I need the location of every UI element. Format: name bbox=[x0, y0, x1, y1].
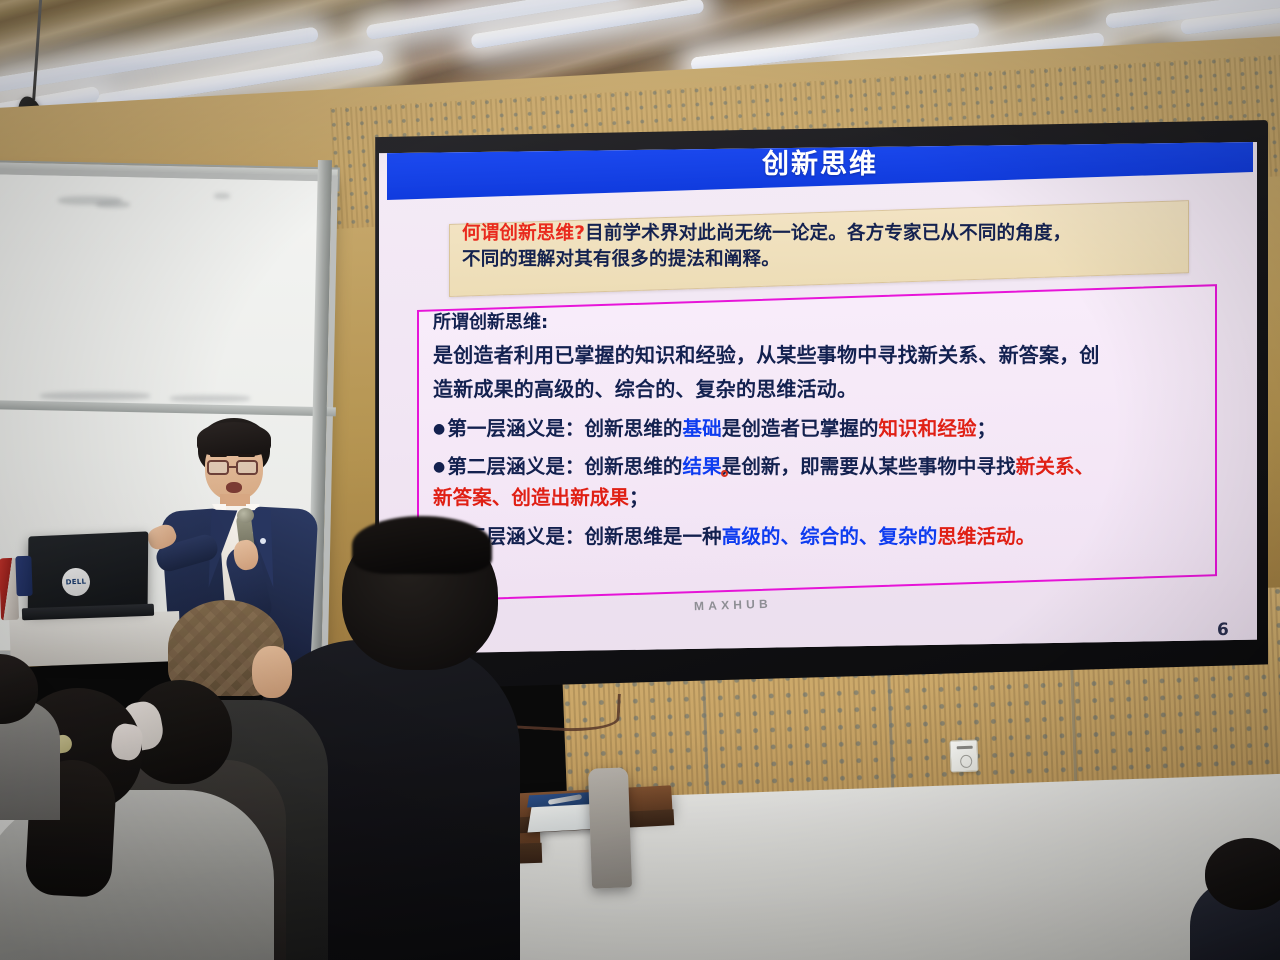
presentation-slide: 创新思维 何谓创新思维?目前学术界对此尚无统一论定。各方专家已从不同的角度， 不… bbox=[379, 142, 1257, 654]
bullet-3-highlight-red: 思维活动。 bbox=[937, 525, 1035, 548]
body-bullet-1: 第一层涵义是：创新思维的基础是创造者已掌握的知识和经验； bbox=[433, 414, 1203, 443]
bullet-2-cont-part: ； bbox=[629, 486, 649, 509]
note-question-text: 何谓创新思维? bbox=[462, 223, 585, 244]
bullet-2-cont-highlight-red: 新答案、创造出新成果 bbox=[433, 486, 629, 509]
glasses-icon bbox=[236, 460, 258, 475]
whiteboard-smudge bbox=[170, 395, 250, 402]
note-line1-rest: 目前学术界对此尚无统一论定。各方专家已从不同的角度， bbox=[585, 223, 1071, 244]
body-bullet-2-continuation: 新答案、创造出新成果； bbox=[433, 483, 1203, 512]
audience-head bbox=[1205, 838, 1280, 910]
lapel-pin-icon bbox=[260, 538, 266, 544]
wall-outlet-panel[interactable] bbox=[949, 740, 978, 773]
dell-logo-text: DELL bbox=[65, 578, 86, 587]
body-lead-text: 所谓创新思维: bbox=[433, 309, 1203, 336]
glasses-icon bbox=[207, 460, 229, 475]
laptop[interactable] bbox=[28, 531, 149, 612]
slide-page-number: 6 bbox=[1217, 620, 1229, 640]
body-bullet-3: 第三层涵义是：创新思维是一种高级的、综合的、复杂的思维活动。 bbox=[433, 522, 1203, 551]
note-line-1: 何谓创新思维?目前学术界对此尚无统一论定。各方专家已从不同的角度， bbox=[462, 221, 1176, 247]
bullet-1-part-1: 第一层涵义是：创新思维的 bbox=[447, 417, 682, 440]
note-line-2: 不同的理解对其有很多的提法和阐释。 bbox=[462, 247, 1176, 273]
display-screen[interactable]: 创新思维 何谓创新思维?目前学术界对此尚无统一论定。各方专家已从不同的角度， 不… bbox=[379, 142, 1257, 654]
body-paragraph-line-1: 是创造者利用已掌握的知识和经验，从某些事物中寻找新关系、新答案，创 bbox=[433, 340, 1203, 370]
whiteboard-smudge bbox=[96, 201, 130, 208]
bullet-2-highlight-blue: 结果 bbox=[683, 455, 722, 478]
slide-body-box: 所谓创新思维: 是创造者利用已掌握的知识和经验，从某些事物中寻找新关系、新答案，… bbox=[417, 284, 1217, 602]
desk-bottle-blue bbox=[15, 556, 32, 597]
body-paragraph-line-2: 造新成果的高级的、综合的、复杂的思维活动。 bbox=[433, 374, 1203, 404]
bullet-2-highlight-red: 新关系、 bbox=[1016, 455, 1094, 478]
bullet-1-part-3: ； bbox=[977, 417, 997, 440]
bullet-1-part-2: 是创造者已掌握的 bbox=[722, 417, 879, 440]
presenter-hair-front bbox=[197, 422, 271, 456]
slide-note-box: 何谓创新思维?目前学术界对此尚无统一论定。各方专家已从不同的角度， 不同的理解对… bbox=[449, 200, 1189, 296]
lecture-hall-photo: 创新思维 何谓创新思维?目前学术界对此尚无统一论定。各方专家已从不同的角度， 不… bbox=[0, 0, 1280, 960]
bullet-1-highlight-blue: 基础 bbox=[683, 417, 722, 440]
mouse-cursor-dot bbox=[721, 470, 728, 477]
maxhub-display[interactable]: 创新思维 何谓创新思维?目前学术界对此尚无统一论定。各方专家已从不同的角度， 不… bbox=[368, 120, 1268, 690]
bullet-1-highlight-red: 知识和经验 bbox=[879, 417, 977, 440]
bullet-3-highlight-blue: 高级的、综合的、复杂的 bbox=[722, 525, 938, 548]
body-bullet-2: 第二层涵义是：创新思维的结果是创新，即需要从某些事物中寻找新关系、 bbox=[433, 452, 1203, 481]
audience-hand bbox=[252, 646, 292, 698]
presenter-eyebrow bbox=[238, 454, 255, 457]
glasses-bridge bbox=[229, 466, 236, 468]
presenter-eyebrow bbox=[210, 454, 227, 457]
chair bbox=[588, 767, 632, 888]
bullet-2-part-2: 是创新，即需要从某些事物中寻找 bbox=[722, 455, 1016, 478]
bullet-2-part-1: 第二层涵义是：创新思维的 bbox=[447, 455, 682, 478]
audience-hair bbox=[352, 516, 492, 574]
whiteboard-smudge bbox=[40, 392, 150, 400]
whiteboard-smudge bbox=[214, 193, 230, 199]
presenter-mouth bbox=[226, 482, 242, 493]
